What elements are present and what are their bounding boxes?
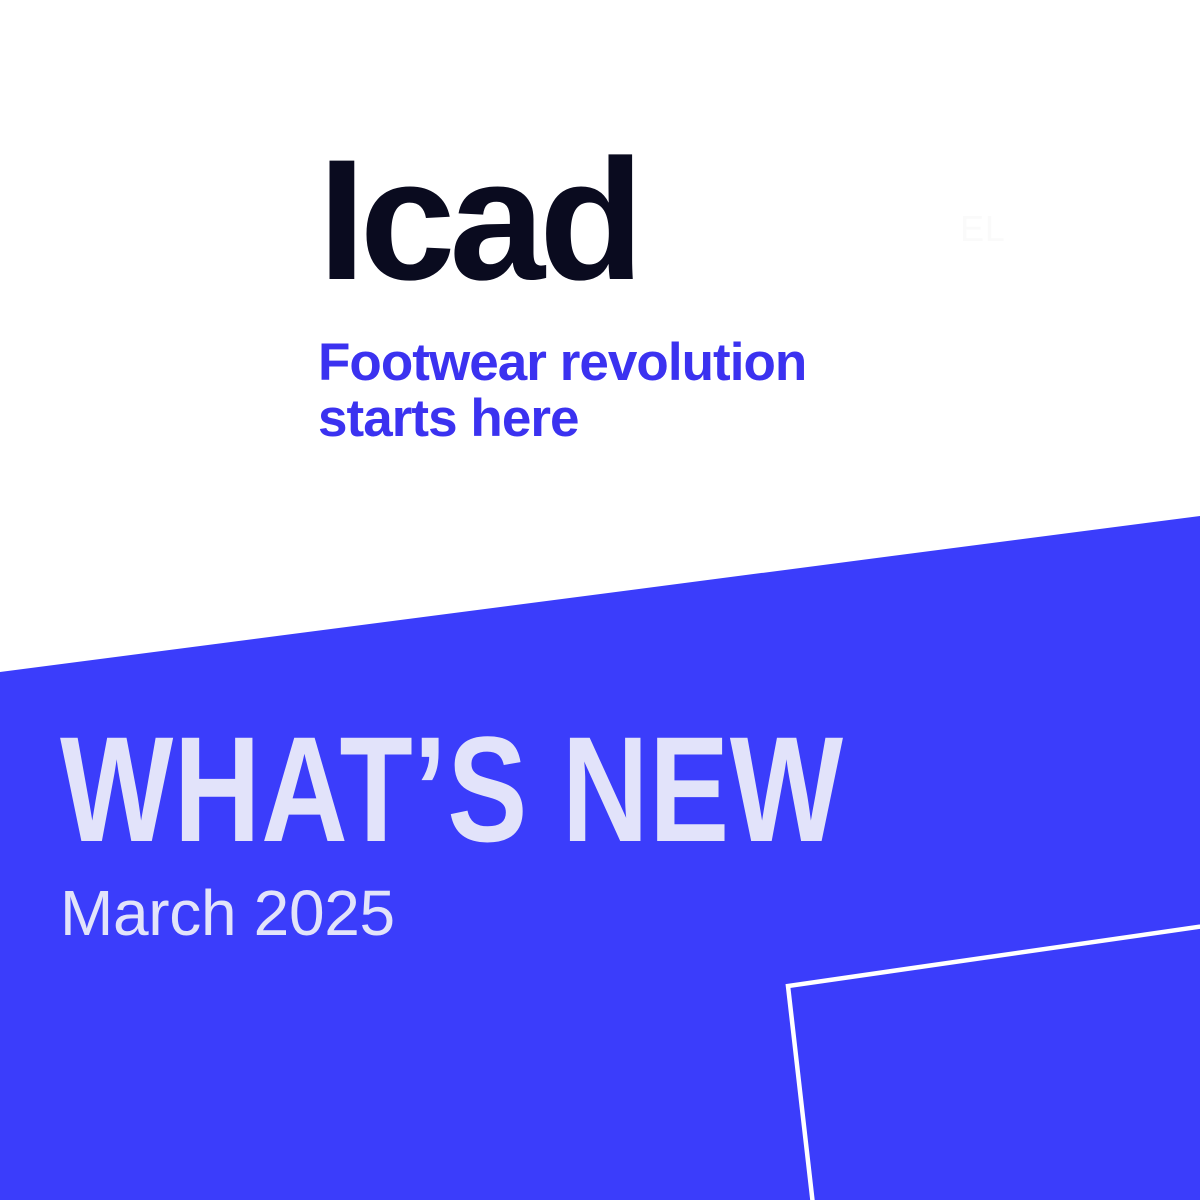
slide-canvas: EL Icad Footwear revolution starts here … (0, 0, 1200, 1200)
faint-watermark-text: EL (960, 208, 1005, 250)
logo-wordmark: Icad (318, 150, 806, 291)
brand-tagline-line-2: starts here (318, 391, 806, 447)
brand-tagline-line-1: Footwear revolution (318, 335, 806, 391)
issue-date: March 2025 (60, 861, 1040, 945)
brand-block: Icad Footwear revolution starts here (318, 150, 806, 447)
page-title: WHAT’S NEW (60, 718, 844, 861)
headline-block: WHAT’S NEW March 2025 (60, 718, 1040, 945)
